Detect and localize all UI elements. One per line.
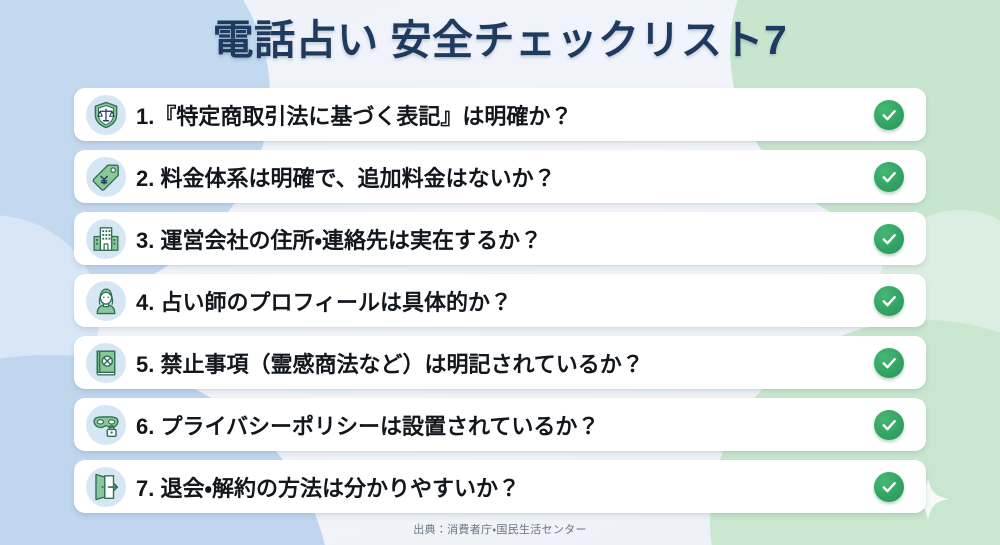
checklist-item[interactable]: 5. 禁止事項（霊感商法など）は明記されているか？ [74, 336, 926, 389]
shield-scales-icon [86, 95, 126, 135]
checklist-item-label: 3. 運営会社の住所・連絡先は実在するか？ [136, 223, 874, 255]
check-circle-icon [874, 410, 904, 440]
page-title: 電話占い 安全チェックリスト7 [213, 16, 788, 65]
checklist-item-label: 7. 退会・解約の方法は分かりやすいか？ [136, 471, 874, 503]
checklist-item[interactable]: 7. 退会・解約の方法は分かりやすいか？ [74, 460, 926, 513]
source-note: 出典：消費者庁・国民生活センター [0, 521, 1000, 537]
infographic-poster: 電話占い 安全チェックリスト7 1.『特定商取引法に基づく表記』は明確か？ [0, 0, 1000, 545]
checklist-item[interactable]: 1.『特定商取引法に基づく表記』は明確か？ [74, 88, 926, 141]
checklist-item-label: 1.『特定商取引法に基づく表記』は明確か？ [136, 99, 874, 131]
check-circle-icon [874, 286, 904, 316]
check-circle-icon [874, 472, 904, 502]
checklist-item-label: 6. プライバシーポリシーは設置されているか？ [136, 409, 874, 441]
check-circle-icon [874, 100, 904, 130]
checklist-item[interactable]: 6. プライバシーポリシーは設置されているか？ [74, 398, 926, 451]
title-container: 電話占い 安全チェックリスト7 [0, 16, 1000, 65]
prohibited-book-icon [86, 343, 126, 383]
checklist: 1.『特定商取引法に基づく表記』は明確か？ [74, 88, 926, 513]
checklist-item[interactable]: 2. 料金体系は明確で、追加料金はないか？ [74, 150, 926, 203]
checklist-item[interactable]: 4. 占い師のプロフィールは具体的か？ [74, 274, 926, 327]
office-building-icon [86, 219, 126, 259]
check-circle-icon [874, 348, 904, 378]
fortune-teller-avatar-icon [86, 281, 126, 321]
checklist-item-label: 2. 料金体系は明確で、追加料金はないか？ [136, 161, 874, 193]
check-circle-icon [874, 224, 904, 254]
check-circle-icon [874, 162, 904, 192]
checklist-item-label: 5. 禁止事項（霊感商法など）は明記されているか？ [136, 347, 874, 379]
checklist-item[interactable]: 3. 運営会社の住所・連絡先は実在するか？ [74, 212, 926, 265]
exit-door-icon [86, 467, 126, 507]
privacy-mask-lock-icon [86, 405, 126, 445]
checklist-item-label: 4. 占い師のプロフィールは具体的か？ [136, 285, 874, 317]
price-tag-yen-icon [86, 157, 126, 197]
